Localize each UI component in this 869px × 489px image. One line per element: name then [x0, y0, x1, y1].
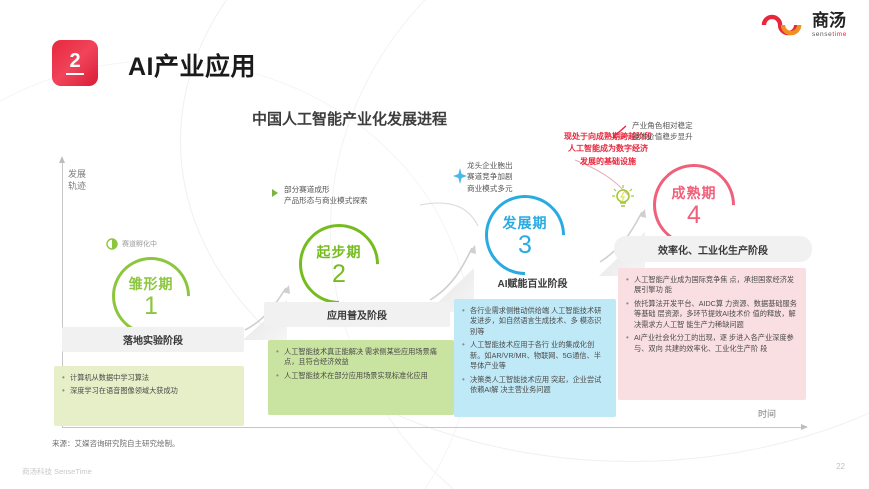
stage-2-name: 起步期 [317, 242, 362, 262]
stage-4-bullet-0: 人工智能产业成为国际竞争焦 点，承担国家经济发展引擎功 能 [625, 275, 798, 296]
stage-4-number: 4 [687, 204, 701, 227]
stage-1-bullet-box: 计算机从数据中学习算法 深度学习在语音图像领域大获成功 [54, 366, 244, 426]
stage-4-bullet-box: 人工智能产业成为国际竞争焦 点，承担国家经济发展引擎功 能 依托算法开发平台、A… [618, 268, 806, 400]
stage-3-bullet-1: 人工智能技术应用于各行 业的集成化创新。如AR/VR/MR、物联网、5G通信、半… [461, 340, 608, 371]
lightbulb-icon [612, 185, 634, 211]
x-axis-label: 时间 [758, 408, 776, 420]
page-title: AI产业应用 [128, 47, 256, 83]
y-axis-label: 发展 轨迹 [68, 168, 98, 192]
stage-2-number: 2 [332, 263, 346, 286]
stage-3-annotation-line-1: 赛道竞争加剧 [467, 171, 597, 182]
stage-2-bullet-box: 人工智能技术真正能解决 需求侧某些应用场景痛点，且符合经济效益 人工智能技术在部… [268, 340, 454, 415]
stage-2-annotation-line-0: 部分赛道成形 [284, 184, 444, 195]
logo-en-time: time [832, 31, 847, 38]
stage-4-ring: 成熟期 4 [653, 164, 735, 246]
stage-1-bullet-0: 计算机从数据中学习算法 [61, 373, 236, 383]
stage-2-ring: 起步期 2 [299, 224, 379, 304]
y-axis-label-line2: 轨迹 [68, 180, 98, 192]
footer-brand: 商汤科技 SenseTime [22, 466, 92, 477]
source-note: 来源：艾媒咨询研究院自主研究绘制。 [52, 438, 180, 449]
slide: 2 AI产业应用 商汤 sensetime 中国人工智能产业化发展进程 发展 轨… [0, 0, 869, 489]
stage-3-number: 3 [518, 234, 532, 257]
rising-trend-icon [612, 124, 628, 138]
stage-2-annotation-triangle-icon [272, 189, 278, 197]
stage-3-annotation-line-2: 商业模式多元 [467, 183, 597, 194]
stage-4-bullet-2: AI产业社会化分工的出现，逐 步进入各产业深度参与、双向 共建的效率化、工业化生… [625, 333, 798, 354]
stage-4-bullet-1: 依托算法开发平台、AIDC算 力资源、数据基础服务等基础 层资源，多环节提效AI… [625, 299, 798, 330]
stage-4-annotation-line-0: 产业角色相对稳定 [632, 120, 782, 131]
stage-1-marker-note: 赛道孵化中 [122, 239, 157, 249]
logo-en-sense: sense [812, 31, 832, 38]
y-axis-label-line1: 发展 [68, 168, 98, 180]
stage-3-name: 发展期 [503, 213, 548, 233]
sensetime-mark-icon [761, 14, 805, 36]
x-axis [62, 427, 802, 428]
stage-3-plate: AI赋能百业阶段 [450, 270, 615, 295]
stage-4-plate: 效率化、工业化生产阶段 [614, 236, 812, 262]
stage-3-ring: 发展期 3 [485, 195, 565, 275]
stage-3-bullet-0: 各行业需求侧推动供给端 人工智能技术研发进步，如自然语言生成技术、多 模态识别等 [461, 306, 608, 337]
section-number-badge: 2 [52, 40, 98, 86]
stage-2-annotation: 部分赛道成形 产品形态与商业模式探索 [284, 184, 444, 207]
stage-2-annotation-line-1: 产品形态与商业模式探索 [284, 195, 444, 206]
callout-red-line-1: 人工智能成为数字经济 [523, 143, 693, 155]
logo-chinese-text: 商汤 [812, 12, 847, 29]
chart-title-text: 中国人工智能产业化发展进程 [252, 111, 447, 128]
stage-3-bullet-2: 决策类人工智能技术应用 突起，企业尝试依赖AI解 决主营业务问题 [461, 375, 608, 396]
half-circle-icon [106, 238, 118, 250]
logo-english-text: sensetime [812, 32, 847, 39]
sparkle-icon [452, 168, 468, 188]
stage-2-plate: 应用普及阶段 [264, 302, 450, 327]
stage-2-bullet-1: 人工智能技术在部分应用场景实现标准化应用 [275, 371, 446, 381]
section-number-text: 2 [69, 50, 80, 73]
stage-4-name: 成熟期 [672, 183, 717, 203]
page-number: 22 [836, 462, 845, 471]
stage-4-annotation-line-1: 技术价值稳步显升 [632, 131, 782, 142]
stage-3-bullet-box: 各行业需求侧推动供给端 人工智能技术研发进步，如自然语言生成技术、多 模态识别等… [454, 299, 616, 417]
stage-1-name: 雏形期 [129, 274, 174, 294]
stage-1-ring: 雏形期 1 [112, 257, 190, 335]
brand-logo: 商汤 sensetime [761, 12, 847, 39]
stage-4-annotation: 产业角色相对稳定 技术价值稳步显升 [632, 120, 782, 143]
stage-2-bullet-0: 人工智能技术真正能解决 需求侧某些应用场景痛点，且符合经济效益 [275, 347, 446, 368]
stage-1-number: 1 [144, 295, 158, 318]
stage-1-bullet-1: 深度学习在语音图像领域大获成功 [61, 386, 236, 396]
stage-1-plate: 落地实验阶段 [62, 327, 244, 352]
